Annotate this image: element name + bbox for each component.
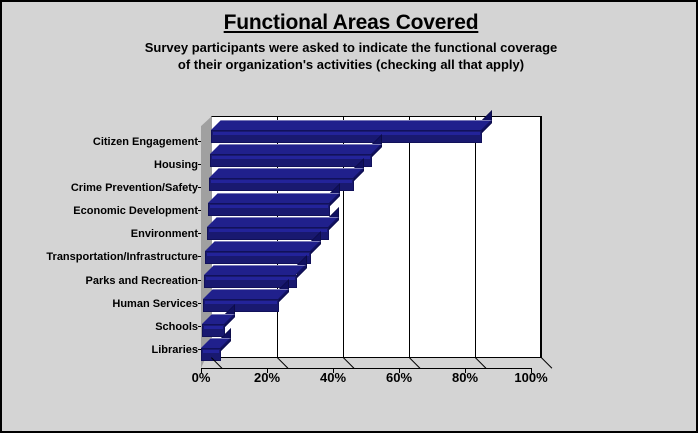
gridline-100 <box>541 116 542 358</box>
bar-top-face <box>209 168 364 178</box>
y-axis-label-environment: Environment <box>18 228 198 240</box>
bar <box>209 168 364 191</box>
plot-area <box>201 116 542 368</box>
y-axis-label-housing: Housing <box>18 159 198 171</box>
x-tick-connector-100 <box>541 347 563 369</box>
y-axis-label-human-services: Human Services <box>18 298 198 310</box>
x-axis-label-60: 60% <box>369 370 429 385</box>
bar <box>210 144 382 167</box>
bar-front-face <box>208 203 330 216</box>
y-axis-label-citizen-engagement: Citizen Engagement <box>18 136 198 148</box>
y-axis-label-schools: Schools <box>18 321 198 333</box>
bar <box>203 289 289 312</box>
bar-front-face <box>203 299 279 312</box>
x-axis-label-0: 0% <box>171 370 231 385</box>
x-axis-label-20: 20% <box>237 370 297 385</box>
x-axis-label-40: 40% <box>303 370 363 385</box>
bar-top-face <box>211 120 492 130</box>
title-block: Functional Areas Covered Survey particip… <box>2 10 698 73</box>
bar-front-face <box>207 227 329 240</box>
chart-subtitle-line-1: Survey participants were asked to indica… <box>2 39 698 56</box>
gridline-80 <box>475 116 476 358</box>
bar <box>211 120 492 143</box>
bar-top-face <box>203 289 289 299</box>
x-axis-line <box>201 368 532 369</box>
bar-top-face <box>207 217 339 227</box>
bar-front-face <box>211 130 482 143</box>
y-axis-label-parks-and-recreation: Parks and Recreation <box>18 275 198 287</box>
bar-front-face <box>210 154 372 167</box>
bar-front-face <box>205 251 311 264</box>
x-axis-label-80: 80% <box>435 370 495 385</box>
x-axis-label-100: 100% <box>501 370 561 385</box>
gridline-60 <box>409 116 410 358</box>
bar-top-face <box>205 241 321 251</box>
bar <box>204 265 306 288</box>
bar-front-face <box>202 324 225 337</box>
chart-title: Functional Areas Covered <box>2 10 698 36</box>
y-axis-category-labels: Citizen EngagementHousingCrime Preventio… <box>12 116 198 368</box>
x-axis-tick-labels: 0%20%40%60%80%100% <box>2 370 698 392</box>
chart-subtitle: Survey participants were asked to indica… <box>2 39 698 73</box>
chart-figure: Functional Areas Covered Survey particip… <box>0 0 698 433</box>
y-axis-label-transportation-infrastructure: Transportation/Infrastructure <box>18 251 198 263</box>
bar-top-face <box>204 265 306 275</box>
chart-subtitle-line-2: of their organization's activities (chec… <box>2 56 698 73</box>
y-axis-label-libraries: Libraries <box>18 344 198 356</box>
bar <box>208 193 340 216</box>
bar-top-face <box>210 144 382 154</box>
bar-top-face <box>208 193 340 203</box>
bar-top-face <box>202 314 235 324</box>
y-axis-label-crime-prevention-safety: Crime Prevention/Safety <box>18 182 198 194</box>
y-axis-label-economic-development: Economic Development <box>18 205 198 217</box>
